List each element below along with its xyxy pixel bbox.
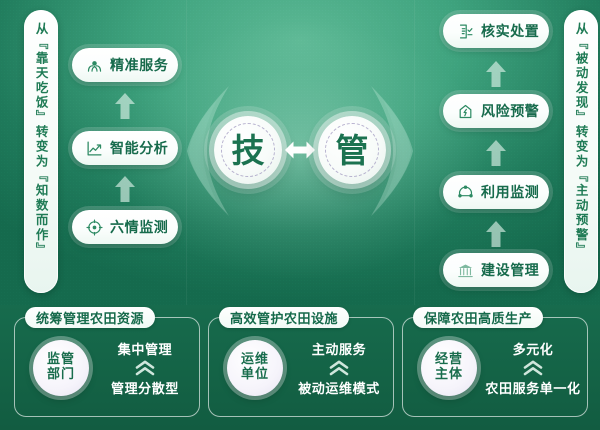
panel-actor-circle: 监管 部门	[33, 340, 89, 396]
card-construction-management[interactable]: 建设管理	[443, 253, 549, 287]
panel-actor-circle: 运维 单位	[227, 340, 283, 396]
card-risk-warning[interactable]: 风险预警	[443, 94, 549, 128]
arrow-up-left-2-icon	[114, 175, 136, 203]
actor-line-1: 经营	[435, 353, 463, 368]
double-arrow-horizontal-icon	[284, 136, 316, 164]
bottom-panel-resource-management: 统筹管理农田资源 监管 部门 集中管理 管理分散型	[14, 317, 200, 417]
chevron-up-icon	[328, 360, 350, 376]
card-intelligent-analysis[interactable]: 智能分析	[72, 131, 178, 165]
bottom-panel-production-guarantee: 保障农田高质生产 经营 主体 多元化 农田服务单一化	[402, 317, 588, 417]
panel-title: 统筹管理农田资源	[25, 307, 155, 328]
chevron-up-icon	[522, 360, 544, 376]
card-label: 利用监测	[481, 182, 539, 202]
card-label: 核实处置	[481, 21, 539, 41]
transition-before-state: 管理分散型	[111, 378, 179, 397]
actor-line-2: 主体	[435, 368, 463, 383]
bottom-band: 统筹管理农田资源 监管 部门 集中管理 管理分散型 高效管护农田设施 运维	[0, 305, 600, 430]
arrow-up-right-1-icon	[485, 60, 507, 88]
panel-actor-circle: 经营 主体	[421, 340, 477, 396]
bank-building-icon	[457, 262, 474, 279]
chevron-up-icon	[134, 360, 156, 376]
card-utilization-monitoring[interactable]: 利用监测	[443, 175, 549, 209]
transition-after-state: 多元化	[513, 339, 554, 358]
card-label: 建设管理	[481, 260, 539, 280]
medallion-char: 管	[336, 134, 369, 167]
left-vertical-banner: 从『靠天吃饭』转变为『知数而作』	[24, 10, 58, 293]
clipboard-check-icon	[457, 23, 474, 40]
card-six-condition-monitoring[interactable]: 六情监测	[72, 210, 178, 244]
radar-target-icon	[86, 219, 103, 236]
card-precise-service[interactable]: 精准服务	[72, 48, 178, 82]
left-banner-text: 从『靠天吃饭』转变为『知数而作』	[34, 22, 47, 257]
right-vertical-banner: 从『被动发现』转变为『主动预警』	[564, 10, 598, 293]
medallion-technology: 技	[214, 116, 282, 184]
actor-line-2: 部门	[47, 368, 75, 383]
transition-before-state: 被动运维模式	[298, 378, 380, 397]
medallion-char: 技	[232, 134, 265, 167]
guide-line-left	[186, 0, 187, 305]
medallion-management: 管	[318, 116, 386, 184]
right-banner-text: 从『被动发现』转变为『主动预警』	[574, 22, 587, 257]
arrow-up-right-2-icon	[485, 139, 507, 167]
card-label: 精准服务	[110, 55, 168, 75]
recycle-network-icon	[457, 184, 474, 201]
panel-title: 保障农田高质生产	[413, 307, 543, 328]
panel-transition: 集中管理 管理分散型	[99, 340, 191, 396]
guide-line-right	[414, 0, 415, 305]
actor-line-1: 运维	[241, 353, 269, 368]
bottom-panel-facility-management: 高效管护农田设施 运维 单位 主动服务 被动运维模式	[208, 317, 394, 417]
top-scene: 从『靠天吃饭』转变为『知数而作』 从『被动发现』转变为『主动预警』 精准服务	[0, 0, 600, 305]
card-verify-disposal[interactable]: 核实处置	[443, 14, 549, 48]
panel-transition: 主动服务 被动运维模式	[293, 340, 385, 396]
infographic-canvas: 从『靠天吃饭』转变为『知数而作』 从『被动发现』转变为『主动预警』 精准服务	[0, 0, 600, 430]
line-chart-icon	[86, 140, 103, 157]
panel-title: 高效管护农田设施	[219, 307, 349, 328]
transition-after-state: 主动服务	[312, 339, 366, 358]
actor-line-2: 单位	[241, 368, 269, 383]
panel-transition: 多元化 农田服务单一化	[487, 340, 579, 396]
arrow-up-right-3-icon	[485, 220, 507, 248]
transition-after-state: 集中管理	[118, 339, 172, 358]
arrow-up-left-1-icon	[114, 92, 136, 120]
actor-line-1: 监管	[47, 353, 75, 368]
transition-before-state: 农田服务单一化	[485, 378, 580, 397]
card-label: 风险预警	[481, 101, 539, 121]
caring-hands-icon	[86, 57, 103, 74]
card-label: 智能分析	[110, 138, 168, 158]
shield-alert-icon	[457, 103, 474, 120]
card-label: 六情监测	[110, 217, 168, 237]
